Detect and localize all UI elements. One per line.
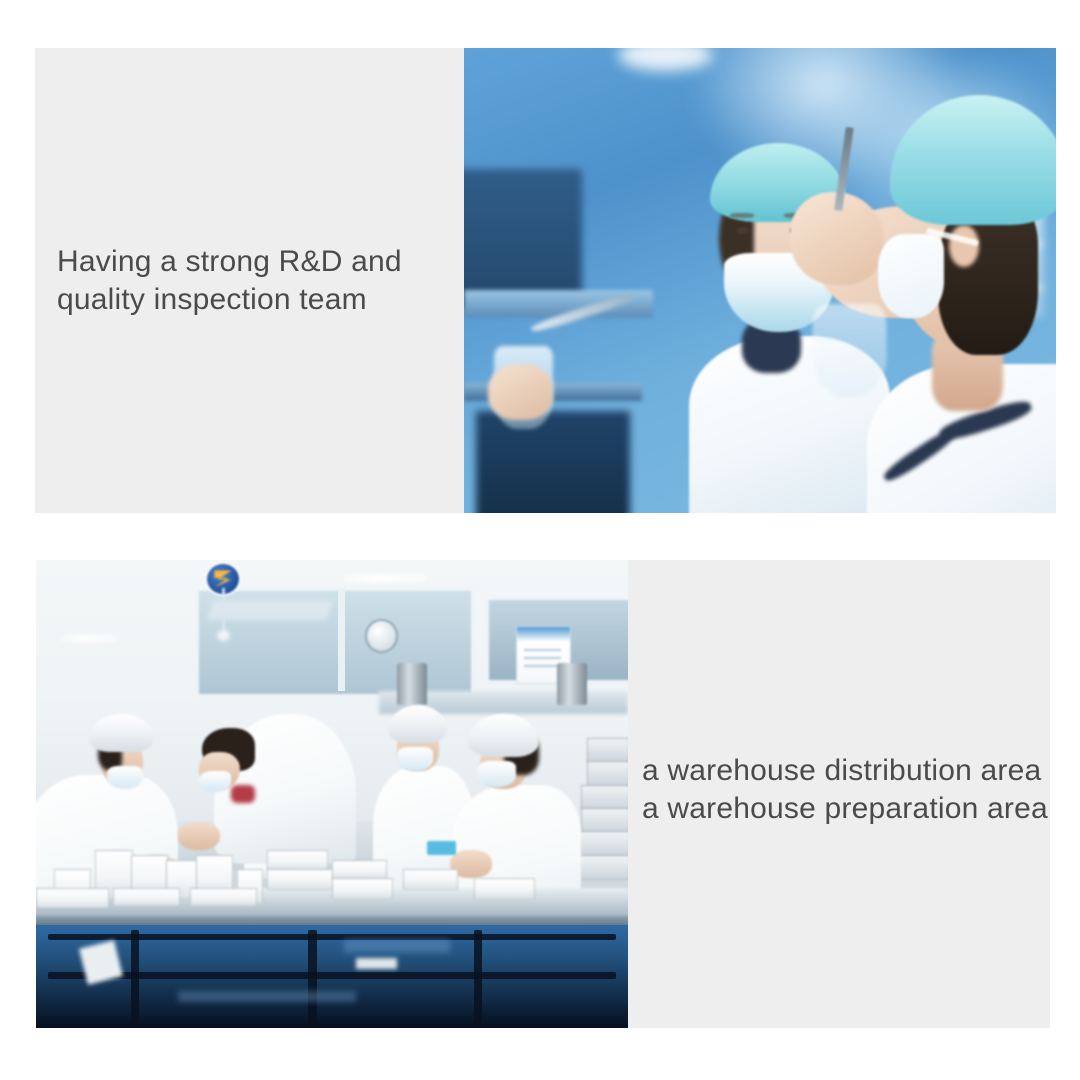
worker-4-mask — [477, 761, 515, 787]
bottom-caption-line-2: a warehouse preparation area — [642, 790, 1048, 828]
worker-4-blue-item — [427, 841, 457, 855]
lab-equipment-left — [464, 169, 582, 309]
table-leg-3 — [474, 930, 482, 1028]
carton-stack-item — [581, 808, 628, 833]
worker-1-mask — [107, 766, 143, 789]
carton-flat — [113, 888, 180, 906]
warehouse-ceiling-light-2 — [344, 574, 427, 581]
warehouse-sign-glyph-icon — [214, 570, 231, 587]
lab-inspection-photo — [464, 48, 1056, 513]
poster-line-1 — [524, 649, 561, 651]
carton-stack-item — [587, 761, 628, 786]
carton-flat — [267, 869, 334, 890]
lab-bench — [464, 290, 653, 318]
warehouse-hanging-cord — [222, 588, 225, 635]
paper-under-table-2 — [356, 958, 397, 970]
bottom-caption: a warehouse distribution area a warehous… — [642, 752, 1048, 828]
table-leg-2 — [308, 930, 316, 1028]
carton-flat — [403, 869, 458, 890]
carton-flat — [267, 850, 328, 871]
wall-clock-icon — [365, 619, 399, 653]
top-caption: Having a strong R&D and quality inspecti… — [57, 243, 402, 319]
steel-canister-2 — [557, 663, 587, 705]
carton-stack-item — [575, 855, 628, 880]
lab-glass-vial — [813, 304, 886, 399]
carton-flat — [474, 878, 535, 899]
worker-2-red-item — [231, 785, 255, 804]
carton-flat — [36, 888, 109, 909]
carton-flat — [332, 878, 393, 899]
warehouse-window-mullion — [338, 588, 345, 691]
table-reflection-1 — [344, 939, 451, 953]
steel-canister-1 — [397, 663, 427, 705]
carton-flat — [332, 860, 387, 881]
top-caption-line-2: quality inspection team — [57, 281, 402, 319]
carton-stack-item — [581, 785, 628, 810]
poster-line-3 — [524, 665, 561, 667]
worker-2-mask — [199, 771, 232, 792]
poster-line-2 — [524, 657, 561, 659]
warehouse-window-glare — [207, 601, 332, 620]
warehouse-ceiling-light-1 — [60, 635, 119, 642]
warehouse-packing-photo — [36, 560, 628, 1028]
lab-cabinet-shadow — [476, 411, 630, 513]
lab-worker-right-ear — [949, 225, 979, 267]
carton-stack-item — [575, 831, 628, 856]
worker-2-hand — [178, 822, 219, 850]
lab-worker-left-brow-1 — [730, 213, 754, 218]
warehouse-window-large — [196, 588, 474, 697]
top-caption-line-1: Having a strong R&D and — [57, 243, 402, 281]
lab-worker-right-mask — [878, 234, 943, 318]
carton-flat — [190, 888, 257, 906]
table-leg-1 — [131, 930, 139, 1028]
worker-3-mask — [397, 747, 433, 770]
lab-worker-left-hand — [488, 364, 553, 420]
carton-stack-item — [587, 738, 628, 763]
table-reflection-2 — [178, 991, 356, 1003]
bottom-caption-line-1: a warehouse distribution area — [642, 752, 1048, 790]
